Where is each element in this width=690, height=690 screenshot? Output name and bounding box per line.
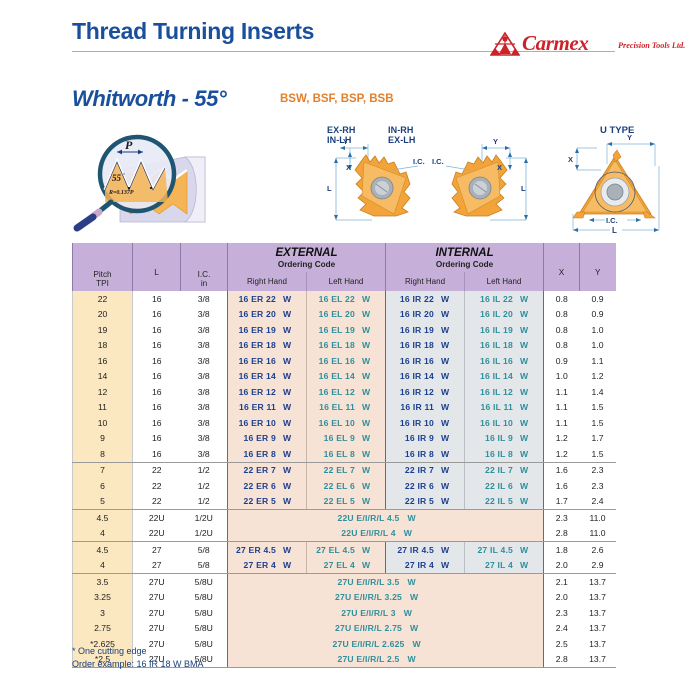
cell-internal-left-hand: 16 IL 16W [465,353,544,369]
brand-tagline: Precision Tools Ltd. [618,41,685,50]
dim-y-left: Y [343,137,348,146]
footnote-order-example: Order example: 16 IR 18 W BMA [72,658,204,671]
standard-codes: BSW, BSF, BSP, BSB [280,93,394,105]
table-row: 4.522U1/2U22U E/I/R/L 4.5W2.311.0 [73,510,616,526]
dim-x-mid: X [497,163,502,172]
brand-logo: Carmex Precision Tools Ltd. [490,32,690,58]
cell-ic: 3/8 [181,338,228,354]
cell-ic: 3/8 [181,384,228,400]
cell-external-right-hand: 16 ER 16W [228,353,307,369]
table-row: 6221/222 ER 6W22 EL 6W22 IR 6W22 IL 6W1.… [73,478,616,494]
cell-external-right-hand: 22 ER 6W [228,478,307,494]
cell-l: 16 [133,322,181,338]
cell-internal-right-hand: 16 IR 19W [386,322,465,338]
svg-text:P: P [125,138,133,152]
cell-internal-left-hand: 22 IL 7W [465,462,544,478]
cell-y: 13.7 [580,605,616,621]
cell-ic: 5/8 [181,558,228,574]
cell-ic: 1/2 [181,478,228,494]
cell-external-left-hand: 16 EL 16W [307,353,386,369]
cell-l: 22 [133,462,181,478]
cell-x: 0.8 [544,322,580,338]
cell-x: 1.2 [544,431,580,447]
cell-external-left-hand: 16 EL 10W [307,415,386,431]
cell-internal-left-hand: 16 IL 11W [465,400,544,416]
cell-ic: 1/2 [181,462,228,478]
cell-internal-left-hand: 16 IL 19W [465,322,544,338]
table-row: 22163/816 ER 22W16 EL 22W16 IR 22W16 IL … [73,291,616,307]
cell-merged-code: 27U E/I/R/L 2.75W [228,621,544,637]
cell-external-left-hand: 22 EL 5W [307,494,386,510]
cell-ic: 5/8U [181,574,228,590]
cell-external-left-hand: 16 EL 22W [307,291,386,307]
cell-internal-right-hand: 27 IR 4W [386,558,465,574]
cell-ic: 1/2 [181,494,228,510]
cell-ic: 3/8 [181,446,228,462]
cell-y: 2.3 [580,478,616,494]
cell-x: 0.8 [544,338,580,354]
cell-external-left-hand: 22 EL 7W [307,462,386,478]
table-row: 12163/816 ER 12W16 EL 12W16 IR 12W16 IL … [73,384,616,400]
cell-pitch: 10 [73,415,133,431]
cell-internal-right-hand: 16 IR 18W [386,338,465,354]
cell-external-left-hand: 27 EL 4.5W [307,542,386,558]
label-in-rh: IN-RH [388,125,414,135]
cell-l: 27U [133,574,181,590]
cell-pitch: 14 [73,369,133,385]
dim-l-left: L [327,184,332,193]
cell-internal-left-hand: 16 IL 9W [465,431,544,447]
cell-external-right-hand: 16 ER 14W [228,369,307,385]
standard-name: Whitworth - 55° [72,86,226,112]
footnote-cutting-edge: * One cutting edge [72,645,204,658]
magnifying-glass-thread-profile-icon: P 55 ° R=0.137P [65,122,265,237]
cell-y: 1.7 [580,431,616,447]
cell-merged-code: 27U E/I/R/L 2.625W [228,636,544,652]
cell-pitch: 20 [73,307,133,323]
cell-pitch: 4.5 [73,510,133,526]
svg-text:I.C.: I.C. [606,216,618,225]
cell-pitch: 3.25 [73,590,133,606]
cell-x: 1.1 [544,400,580,416]
dim-l-mid: L [521,184,526,193]
col-header-x: X [544,243,580,291]
cell-external-left-hand: 16 EL 11W [307,400,386,416]
cell-ic: 5/8 [181,542,228,558]
illustration-row: P 55 ° R=0.137P [60,122,690,240]
cell-pitch: 6 [73,478,133,494]
cell-internal-right-hand: 16 IR 10W [386,415,465,431]
inserts-table: Pitch TPI L I.C. in EXTERNAL Ordering Co… [72,243,615,668]
label-ex-lh: EX-LH [388,135,416,145]
cell-external-right-hand: 27 ER 4W [228,558,307,574]
cell-internal-left-hand: 16 IL 12W [465,384,544,400]
cell-x: 2.1 [544,574,580,590]
table-body: 22163/816 ER 22W16 EL 22W16 IR 22W16 IL … [73,291,616,668]
cell-external-right-hand: 16 ER 22W [228,291,307,307]
cell-x: 2.8 [544,652,580,668]
cell-internal-right-hand: 27 IR 4.5W [386,542,465,558]
cell-y: 0.9 [580,291,616,307]
col-header-ext-left-hand: Left Hand [307,272,386,291]
cell-l: 22U [133,510,181,526]
cell-external-right-hand: 27 ER 4.5W [228,542,307,558]
cell-x: 1.1 [544,415,580,431]
cell-external-right-hand: 16 ER 8W [228,446,307,462]
cell-l: 27U [133,590,181,606]
cell-l: 27U [133,605,181,621]
cell-l: 16 [133,353,181,369]
cell-y: 0.9 [580,307,616,323]
cell-l: 16 [133,338,181,354]
table-row: 3.527U5/8U27U E/I/R/L 3.5W2.113.7 [73,574,616,590]
cell-ic: 5/8U [181,605,228,621]
cell-ic: 3/8 [181,400,228,416]
table-row: 18163/816 ER 18W16 EL 18W16 IR 18W16 IL … [73,338,616,354]
cell-external-right-hand: 16 ER 9W [228,431,307,447]
cell-l: 16 [133,369,181,385]
cell-x: 0.8 [544,291,580,307]
cell-internal-left-hand: 16 IL 10W [465,415,544,431]
table-row: 2.7527U5/8U27U E/I/R/L 2.75W2.413.7 [73,621,616,637]
cell-internal-right-hand: 16 IR 16W [386,353,465,369]
cell-y: 11.0 [580,510,616,526]
cell-l: 22 [133,478,181,494]
threading-insert-u-type-icon: I.C. L [555,122,690,237]
table-head: Pitch TPI L I.C. in EXTERNAL Ordering Co… [73,243,616,291]
cell-y: 13.7 [580,574,616,590]
table-row: 7221/222 ER 7W22 EL 7W22 IR 7W22 IL 7W1.… [73,462,616,478]
cell-pitch: 3.5 [73,574,133,590]
col-header-ic: I.C. in [181,243,228,291]
cell-y: 1.0 [580,338,616,354]
cell-y: 1.1 [580,353,616,369]
cell-l: 27 [133,542,181,558]
col-header-int-right-hand: Right Hand [386,272,465,291]
cell-l: 16 [133,431,181,447]
svg-text:I.C.: I.C. [413,157,425,166]
cell-l: 16 [133,415,181,431]
cell-y: 2.6 [580,542,616,558]
cell-l: 16 [133,307,181,323]
cell-ic: 5/8U [181,590,228,606]
cell-x: 2.3 [544,605,580,621]
cell-external-right-hand: 16 ER 11W [228,400,307,416]
cell-y: 2.4 [580,494,616,510]
cell-y: 1.0 [580,322,616,338]
cell-ic: 3/8 [181,322,228,338]
table-row: 19163/816 ER 19W16 EL 19W16 IR 19W16 IL … [73,322,616,338]
cell-l: 16 [133,291,181,307]
cell-ic: 3/8 [181,369,228,385]
table-row: 11163/816 ER 11W16 EL 11W16 IR 11W16 IL … [73,400,616,416]
cell-internal-right-hand: 22 IR 6W [386,478,465,494]
cell-y: 13.7 [580,590,616,606]
cell-internal-left-hand: 16 IL 18W [465,338,544,354]
cell-x: 2.4 [544,621,580,637]
cell-x: 1.0 [544,369,580,385]
cell-x: 2.5 [544,636,580,652]
col-header-l: L [133,243,181,291]
table-row: 8163/816 ER 8W16 EL 8W16 IR 8W16 IL 8W1.… [73,446,616,462]
cell-pitch: 5 [73,494,133,510]
cell-y: 1.5 [580,446,616,462]
col-header-int-left-hand: Left Hand [465,272,544,291]
svg-text:°: ° [123,174,125,179]
cell-merged-code: 27U E/I/R/L 3W [228,605,544,621]
svg-text:55: 55 [112,173,122,183]
cell-l: 22 [133,494,181,510]
cell-x: 1.8 [544,542,580,558]
cell-ic: 1/2U [181,510,228,526]
cell-pitch: 16 [73,353,133,369]
cell-y: 13.7 [580,621,616,637]
cell-ic: 3/8 [181,291,228,307]
cell-x: 1.6 [544,462,580,478]
cell-external-right-hand: 16 ER 12W [228,384,307,400]
col-header-y: Y [580,243,616,291]
footnotes: * One cutting edge Order example: 16 IR … [72,645,204,671]
cell-pitch: 4 [73,558,133,574]
cell-internal-right-hand: 16 IR 11W [386,400,465,416]
cell-pitch: 11 [73,400,133,416]
cell-l: 27U [133,621,181,637]
cell-ic: 3/8 [181,415,228,431]
cell-merged-code: 27U E/I/R/L 2.5W [228,652,544,668]
table-row: 9163/816 ER 9W16 EL 9W16 IR 9W16 IL 9W1.… [73,431,616,447]
catalog-page: Thread Turning Inserts Carmex Precision … [0,0,690,690]
page-header: Thread Turning Inserts Carmex Precision … [72,18,615,58]
cell-external-left-hand: 16 EL 14W [307,369,386,385]
cell-x: 2.3 [544,510,580,526]
col-header-internal: INTERNAL Ordering Code [386,243,544,272]
cell-internal-right-hand: 16 IR 14W [386,369,465,385]
svg-text:I.C.: I.C. [432,157,444,166]
cell-internal-left-hand: 27 IL 4W [465,558,544,574]
cell-external-left-hand: 16 EL 20W [307,307,386,323]
dim-y-mid: Y [493,137,498,146]
cell-internal-right-hand: 16 IR 22W [386,291,465,307]
label-ex-rh: EX-RH [327,125,356,135]
table-row: 3.2527U5/8U27U E/I/R/L 3.25W2.013.7 [73,590,616,606]
cell-pitch: 4.5 [73,542,133,558]
cell-pitch: 3 [73,605,133,621]
cell-external-right-hand: 16 ER 18W [228,338,307,354]
cell-external-left-hand: 22 EL 6W [307,478,386,494]
cell-pitch: 18 [73,338,133,354]
col-header-ext-right-hand: Right Hand [228,272,307,291]
cell-x: 2.0 [544,558,580,574]
cell-pitch: 4 [73,526,133,542]
cell-ic: 3/8 [181,431,228,447]
cell-y: 11.0 [580,526,616,542]
cell-y: 1.5 [580,415,616,431]
cell-pitch: 7 [73,462,133,478]
svg-text:L: L [612,226,617,235]
cell-external-left-hand: 16 EL 19W [307,322,386,338]
cell-x: 2.8 [544,526,580,542]
cell-ic: 1/2U [181,526,228,542]
cell-external-right-hand: 22 ER 5W [228,494,307,510]
cell-ic: 3/8 [181,353,228,369]
svg-text:R=0.137P: R=0.137P [108,190,134,196]
cell-external-right-hand: 16 ER 10W [228,415,307,431]
table-row: 4.5275/827 ER 4.5W27 EL 4.5W27 IR 4.5W27… [73,542,616,558]
cell-external-left-hand: 16 EL 12W [307,384,386,400]
table-row: 5221/222 ER 5W22 EL 5W22 IR 5W22 IL 5W1.… [73,494,616,510]
cell-internal-left-hand: 16 IL 20W [465,307,544,323]
cell-internal-right-hand: 16 IR 8W [386,446,465,462]
col-header-pitch: Pitch TPI [73,243,133,291]
cell-external-left-hand: 27 EL 4W [307,558,386,574]
dim-x-u: X [568,155,573,164]
cell-x: 1.1 [544,384,580,400]
table-row: 327U5/8U27U E/I/R/L 3W2.313.7 [73,605,616,621]
carmex-triangle-logo-icon [490,32,520,56]
cell-x: 1.2 [544,446,580,462]
brand-name: Carmex [522,31,588,56]
cell-l: 27 [133,558,181,574]
cell-external-right-hand: 16 ER 20W [228,307,307,323]
col-header-external: EXTERNAL Ordering Code [228,243,386,272]
cell-x: 1.6 [544,478,580,494]
cell-external-right-hand: 16 ER 19W [228,322,307,338]
cell-l: 16 [133,446,181,462]
page-title: Thread Turning Inserts [72,18,314,45]
cell-internal-right-hand: 16 IR 9W [386,431,465,447]
table-row: 422U1/2U22U E/I/R/L 4W2.811.0 [73,526,616,542]
cell-internal-right-hand: 22 IR 5W [386,494,465,510]
cell-merged-code: 22U E/I/R/L 4.5W [228,510,544,526]
cell-external-left-hand: 16 EL 18W [307,338,386,354]
cell-l: 22U [133,526,181,542]
cell-y: 13.7 [580,636,616,652]
cell-internal-left-hand: 27 IL 4.5W [465,542,544,558]
cell-x: 0.8 [544,307,580,323]
table-row: 10163/816 ER 10W16 EL 10W16 IR 10W16 IL … [73,415,616,431]
cell-x: 0.9 [544,353,580,369]
dim-x-left: X [346,163,351,172]
cell-merged-code: 27U E/I/R/L 3.25W [228,590,544,606]
cell-merged-code: 22U E/I/R/L 4W [228,526,544,542]
table-row: 20163/816 ER 20W16 EL 20W16 IR 20W16 IL … [73,307,616,323]
cell-l: 16 [133,384,181,400]
cell-pitch: 2.75 [73,621,133,637]
cell-x: 2.0 [544,590,580,606]
cell-external-left-hand: 16 EL 9W [307,431,386,447]
cell-pitch: 22 [73,291,133,307]
cell-internal-left-hand: 16 IL 14W [465,369,544,385]
cell-l: 16 [133,400,181,416]
cell-internal-right-hand: 16 IR 12W [386,384,465,400]
table-row: 14163/816 ER 14W16 EL 14W16 IR 14W16 IL … [73,369,616,385]
cell-ic: 5/8U [181,621,228,637]
cell-pitch: 19 [73,322,133,338]
cell-internal-left-hand: 16 IL 22W [465,291,544,307]
dim-y-u: Y [627,133,632,142]
cell-y: 1.2 [580,369,616,385]
cell-pitch: 8 [73,446,133,462]
cell-internal-right-hand: 22 IR 7W [386,462,465,478]
cell-internal-left-hand: 22 IL 5W [465,494,544,510]
cell-x: 1.7 [544,494,580,510]
cell-y: 1.4 [580,384,616,400]
cell-internal-left-hand: 22 IL 6W [465,478,544,494]
cell-external-right-hand: 22 ER 7W [228,462,307,478]
cell-y: 1.5 [580,400,616,416]
cell-y: 13.7 [580,652,616,668]
cell-y: 2.9 [580,558,616,574]
cell-y: 2.3 [580,462,616,478]
table-row: 16163/816 ER 16W16 EL 16W16 IR 16W16 IL … [73,353,616,369]
table-row: 4275/827 ER 4W27 EL 4W27 IR 4W27 IL 4W2.… [73,558,616,574]
cell-internal-left-hand: 16 IL 8W [465,446,544,462]
cell-internal-right-hand: 16 IR 20W [386,307,465,323]
cell-pitch: 12 [73,384,133,400]
cell-pitch: 9 [73,431,133,447]
cell-external-left-hand: 16 EL 8W [307,446,386,462]
cell-merged-code: 27U E/I/R/L 3.5W [228,574,544,590]
cell-ic: 3/8 [181,307,228,323]
